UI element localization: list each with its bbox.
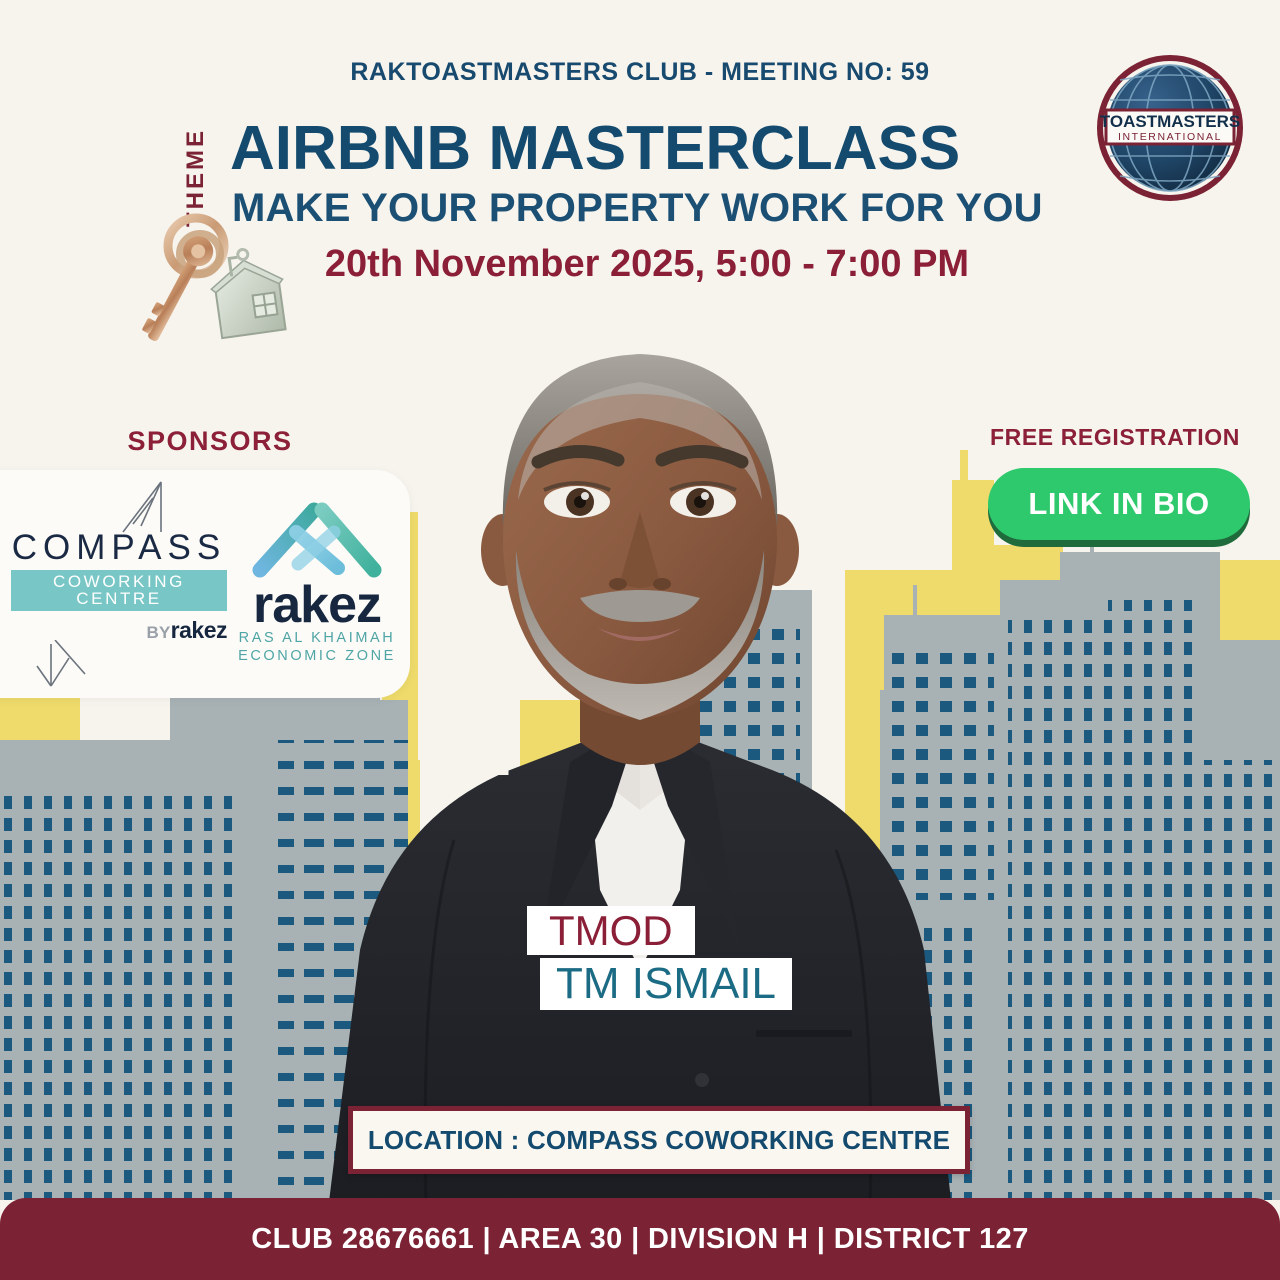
compass-wordmark: COMPASS: [11, 530, 227, 565]
rakez-logo: rakez RAS AL KHAIMAH ECONOMIC ZONE: [233, 502, 401, 665]
page-subtitle: MAKE YOUR PROPERTY WORK FOR YOU: [232, 188, 1062, 228]
rakez-wordmark: rakez: [233, 582, 401, 629]
location-banner: LOCATION : COMPASS COWORKING CENTRE: [348, 1106, 970, 1174]
toastmasters-logo: TOASTMASTERS INTERNATIONAL: [1090, 48, 1250, 208]
speaker-name: TM ISMAIL: [540, 958, 792, 1010]
rakez-tagline-line2: ECONOMIC ZONE: [233, 647, 401, 665]
compass-tagline: COWORKING CENTRE: [11, 570, 227, 611]
compass-arrow-down-icon: [11, 640, 227, 692]
speaker-portrait: [240, 250, 1040, 1210]
rakez-tagline-line1: RAS AL KHAIMAH: [233, 629, 401, 647]
link-in-bio-button[interactable]: LINK IN BIO: [988, 468, 1250, 540]
speaker-role: TMOD: [527, 906, 695, 955]
compass-byline: BYrakez: [11, 619, 227, 642]
club-meeting-line: RAKTOASTMASTERS CLUB - MEETING NO: 59: [0, 58, 1280, 87]
rakez-triangle-icon: [242, 502, 392, 580]
footer-bar: CLUB 28676661 | AREA 30 | DIVISION H | D…: [0, 1198, 1280, 1280]
sponsors-label: SPONSORS: [0, 426, 420, 457]
compass-logo: COMPASS COWORKING CENTRE BYrakez: [11, 476, 227, 692]
event-date-time: 20th November 2025, 5:00 - 7:00 PM: [232, 244, 1062, 286]
house-keys-icon: [138, 208, 308, 373]
compass-by-prefix: BY: [146, 623, 170, 642]
compass-arrow-up-icon: [11, 476, 227, 534]
event-poster: RAKTOASTMASTERS CLUB - MEETING NO: 59 TH…: [0, 0, 1280, 1280]
international-wordmark: INTERNATIONAL: [1118, 131, 1222, 143]
compass-by-brand: rakez: [171, 617, 227, 643]
sponsors-card: COMPASS COWORKING CENTRE BYrakez: [0, 470, 410, 698]
free-registration-label: FREE REGISTRATION: [960, 424, 1270, 451]
toastmasters-wordmark: TOASTMASTERS: [1100, 112, 1240, 131]
page-title: AIRBNB MASTERCLASS: [230, 118, 1060, 180]
